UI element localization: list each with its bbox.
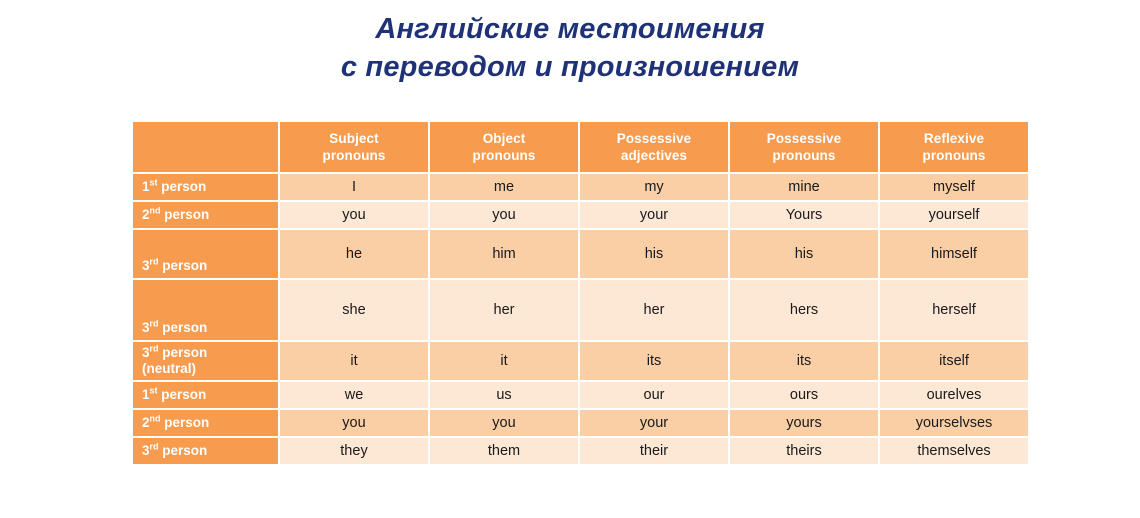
table-cell: my [580,174,728,200]
row-label-text: person [159,345,208,360]
table-cell: him [430,230,578,278]
page-title: Английские местоимения с переводом и про… [0,10,1140,86]
table-cell: her [580,280,728,340]
table-cell: you [280,410,428,436]
table-cell: its [730,342,878,380]
page-title-line-2: с переводом и произношением [0,48,1140,86]
table-cell: his [580,230,728,278]
table-corner-cell [133,122,278,172]
table-row: 3rd person(neutral)itititsitsitself [133,342,1028,380]
column-header-line-1: Subject [280,130,428,147]
row-label-ordinal-suffix: rd [150,442,159,452]
row-label-ordinal: 2 [142,207,150,222]
row-label-ordinal-suffix: st [150,178,158,188]
table-cell: he [280,230,428,278]
row-label-text: person [161,415,210,430]
table-cell: your [580,202,728,228]
table-cell: yourselvses [880,410,1028,436]
row-label-5: 3rd person(neutral) [133,342,278,380]
row-label-1: 1st person [133,174,278,200]
table-header: SubjectpronounsObjectpronounsPossessivea… [133,122,1028,172]
page-title-line-1: Английские местоимения [0,10,1140,48]
table-cell: Yours [730,202,878,228]
table-cell: hers [730,280,878,340]
table-cell: yours [730,410,878,436]
table-cell: we [280,382,428,408]
table-row: 3rd personhehimhishishimself [133,230,1028,278]
table-cell: me [430,174,578,200]
row-label-text: person [158,179,207,194]
table-cell: our [580,382,728,408]
table-cell: she [280,280,428,340]
row-label-ordinal-suffix: st [150,386,158,396]
table-header-row: SubjectpronounsObjectpronounsPossessivea… [133,122,1028,172]
table-cell: their [580,438,728,464]
row-label-3: 3rd person [133,230,278,278]
row-label-main: 1st person [142,179,206,194]
row-label-main: 3rd person [142,258,207,273]
column-header-line-2: adjectives [580,147,728,164]
table-cell: his [730,230,878,278]
table-row: 1st personImemyminemyself [133,174,1028,200]
row-label-ordinal: 3 [142,320,150,335]
column-header-1: Subjectpronouns [280,122,428,172]
row-label-ordinal-suffix: rd [150,257,159,267]
row-label-main: 3rd person [142,443,207,458]
table-cell: ourelves [880,382,1028,408]
row-label-ordinal-suffix: nd [150,206,161,216]
table-cell: us [430,382,578,408]
table-body: 1st personImemyminemyself2nd personyouyo… [133,174,1028,464]
row-label-text: person [161,207,210,222]
row-label-main: 1st person [142,387,206,402]
row-label-8: 3rd person [133,438,278,464]
pronoun-table: SubjectpronounsObjectpronounsPossessivea… [131,120,1030,466]
row-label-ordinal: 3 [142,443,150,458]
column-header-line-2: pronouns [730,147,878,164]
table-cell: themselves [880,438,1028,464]
row-label-6: 1st person [133,382,278,408]
column-header-line-1: Possessive [730,130,878,147]
column-header-2: Objectpronouns [430,122,578,172]
column-header-3: Possessiveadjectives [580,122,728,172]
column-header-line-1: Reflexive [880,130,1028,147]
column-header-5: Reflexivepronouns [880,122,1028,172]
table-cell: it [280,342,428,380]
row-label-4: 3rd person [133,280,278,340]
table-cell: theirs [730,438,878,464]
table-cell: herself [880,280,1028,340]
table-row: 1st personweusouroursourelves [133,382,1028,408]
row-label-7: 2nd person [133,410,278,436]
column-header-line-2: pronouns [280,147,428,164]
table-row: 3rd persontheythemtheirtheirsthemselves [133,438,1028,464]
table-cell: you [430,410,578,436]
row-label-ordinal-suffix: rd [150,319,159,329]
row-label-text: person [159,258,208,273]
row-label-main: 2nd person [142,415,209,430]
table-cell: ours [730,382,878,408]
table-cell: myself [880,174,1028,200]
column-header-line-1: Object [430,130,578,147]
row-label-main: 2nd person [142,207,209,222]
row-label-main: 3rd person [142,320,207,335]
table-cell: its [580,342,728,380]
table-cell: I [280,174,428,200]
row-label-text: person [158,387,207,402]
table-cell: they [280,438,428,464]
row-label-ordinal: 1 [142,179,150,194]
row-label-text: person [159,320,208,335]
row-label-text: person [159,443,208,458]
row-label-ordinal: 2 [142,415,150,430]
table-cell: it [430,342,578,380]
row-label-second-line: (neutral) [142,361,278,377]
row-label-ordinal: 1 [142,387,150,402]
row-label-ordinal: 3 [142,345,150,360]
table-cell: you [280,202,428,228]
table-cell: her [430,280,578,340]
column-header-4: Possessivepronouns [730,122,878,172]
table-cell: you [430,202,578,228]
table-cell: them [430,438,578,464]
table-cell: mine [730,174,878,200]
table-row: 3rd personsheherherhersherself [133,280,1028,340]
table-cell: yourself [880,202,1028,228]
column-header-line-1: Possessive [580,130,728,147]
row-label-ordinal-suffix: rd [150,344,159,354]
column-header-line-2: pronouns [430,147,578,164]
row-label-main: 3rd person [142,345,207,360]
table-row: 2nd personyouyouyouryoursyourselvses [133,410,1028,436]
column-header-line-2: pronouns [880,147,1028,164]
table-cell: your [580,410,728,436]
row-label-ordinal: 3 [142,258,150,273]
table-cell: itself [880,342,1028,380]
row-label-ordinal-suffix: nd [150,414,161,424]
table-row: 2nd personyouyouyourYoursyourself [133,202,1028,228]
row-label-2: 2nd person [133,202,278,228]
table-cell: himself [880,230,1028,278]
